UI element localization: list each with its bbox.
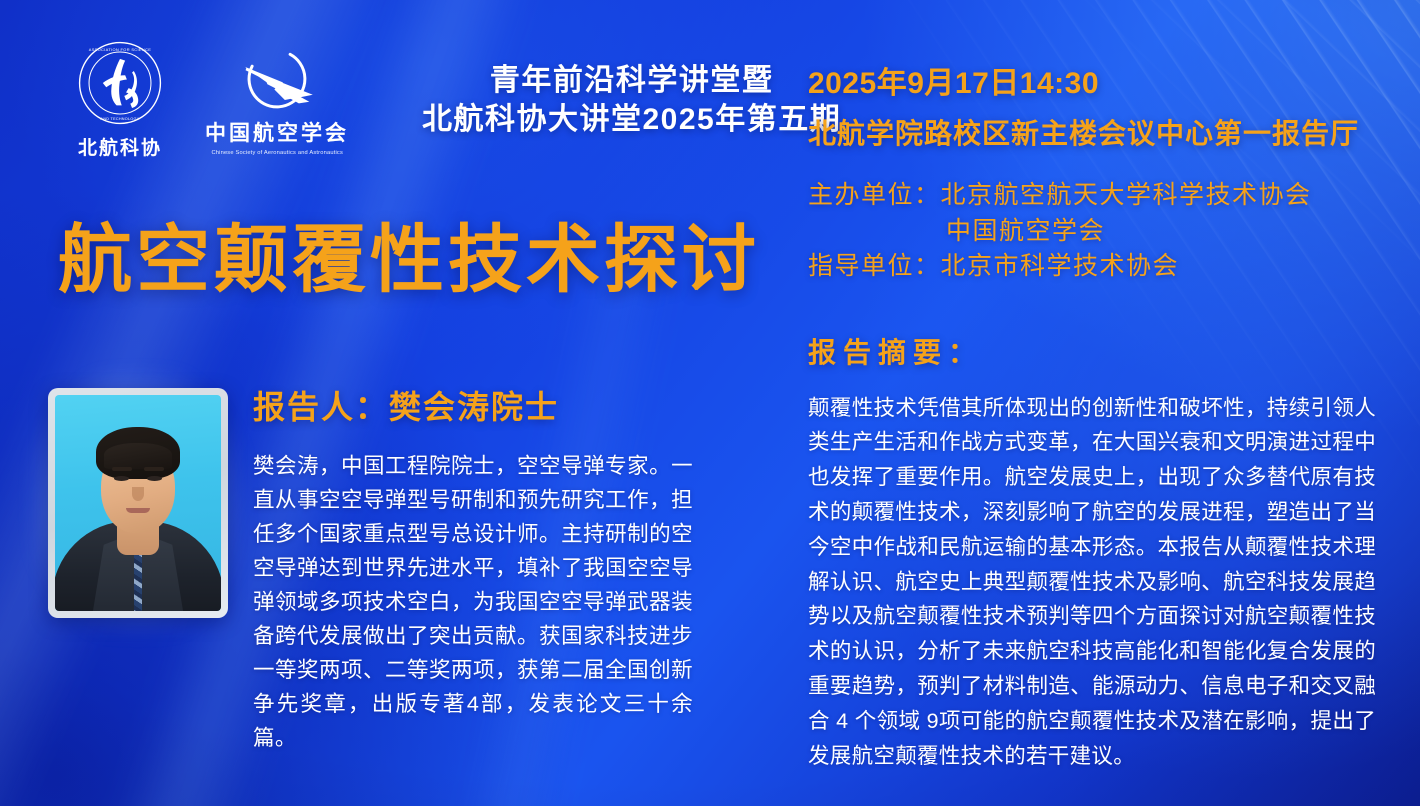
svg-text:AND TECHNOLOGY: AND TECHNOLOGY (101, 117, 140, 121)
logo-csaa-label-cn: 中国航空学会 (205, 117, 349, 147)
speaker-portrait (48, 388, 228, 618)
speaker-bio: 樊会涛，中国工程院院士，空空导弹专家。一直从事空空导弹型号研制和预先研究工作，担… (253, 450, 693, 756)
organizer-line-cohost: 中国航空学会 (808, 214, 1378, 250)
svg-text:ASSOCIATION FOR SCIENCE: ASSOCIATION FOR SCIENCE (89, 47, 152, 52)
portrait-mouth (126, 508, 150, 513)
speaker-section: 报告人：樊会涛院士 樊会涛，中国工程院院士，空空导弹专家。一直从事空空导弹型号研… (253, 382, 693, 756)
header: ASSOCIATION FOR SCIENCE AND TECHNOLOGY 北… (72, 40, 841, 160)
logo-buaa-label: 北航科协 (78, 133, 162, 160)
organizer-line-advisor: 指导单位：北京市科学技术协会 (808, 249, 1378, 285)
logo-buaa-association: ASSOCIATION FOR SCIENCE AND TECHNOLOGY 北… (72, 40, 168, 160)
page-title: 航空颠覆性技术探讨 (58, 200, 760, 307)
csaa-aircraft-circle-icon (229, 44, 325, 114)
header-title-line1: 青年前沿科学讲堂暨 (422, 61, 841, 100)
portrait-brow-left (112, 467, 132, 471)
buaa-association-seal-icon: ASSOCIATION FOR SCIENCE AND TECHNOLOGY (77, 40, 163, 126)
organizers: 主办单位：北京航空航天大学科学技术协会 中国航空学会 指导单位：北京市科学技术协… (808, 178, 1378, 285)
abstract-body: 颠覆性技术凭借其所体现出的创新性和破坏性，持续引领人类生产生活和作战方式变革，在… (808, 391, 1376, 774)
abstract-heading: 报告摘要： (808, 331, 1378, 371)
portrait-frame (48, 388, 228, 618)
portrait-eye-left (114, 476, 129, 481)
speaker-heading: 报告人：樊会涛院士 (253, 382, 693, 428)
organizer-line-host: 主办单位：北京航空航天大学科学技术协会 (808, 178, 1378, 214)
event-venue: 北航学院路校区新主楼会议中心第一报告厅 (808, 112, 1378, 152)
logo-csaa: 中国航空学会 Chinese Society of Aeronautics an… (202, 44, 352, 156)
header-title: 青年前沿科学讲堂暨 北航科协大讲堂2025年第五期 (422, 61, 841, 139)
portrait-eye-right (147, 476, 162, 481)
portrait-nose (132, 487, 144, 501)
event-info-section: 2025年9月17日14:30 北航学院路校区新主楼会议中心第一报告厅 主办单位… (808, 58, 1378, 774)
poster-root: ASSOCIATION FOR SCIENCE AND TECHNOLOGY 北… (0, 0, 1420, 806)
portrait-photo-image (55, 395, 221, 611)
logo-csaa-label-en: Chinese Society of Aeronautics and Astro… (211, 150, 343, 156)
event-datetime: 2025年9月17日14:30 (808, 58, 1378, 102)
portrait-hair (96, 427, 180, 479)
header-title-line2: 北航科协大讲堂2025年第五期 (422, 100, 841, 139)
portrait-brow-right (144, 467, 164, 471)
